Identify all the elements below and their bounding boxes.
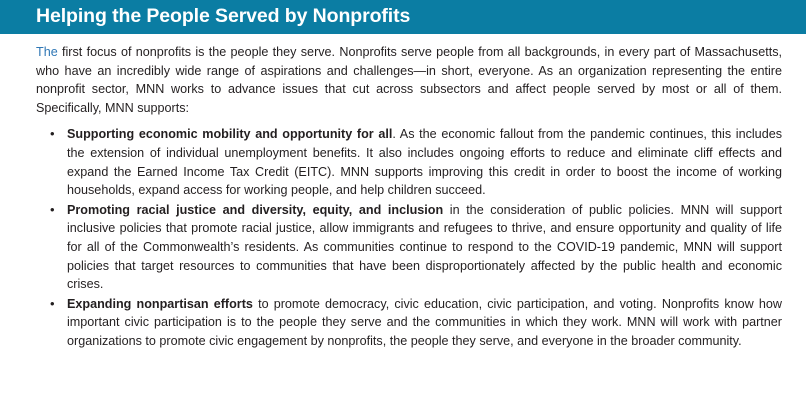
document-body: The first focus of nonprofits is the peo… [0,34,806,351]
supports-bullet-list: •Supporting economic mobility and opport… [36,125,782,350]
list-item-lead: Expanding nonpartisan efforts [67,297,253,311]
intro-paragraph: The first focus of nonprofits is the peo… [36,43,782,117]
bullet-marker-icon: • [50,295,55,314]
intro-paragraph-text: first focus of nonprofits is the people … [36,45,782,115]
section-header-banner: Helping the People Served by Nonprofits [0,0,806,34]
intro-lead-word: The [36,45,58,59]
list-item: •Supporting economic mobility and opport… [36,125,782,199]
list-item-lead: Supporting economic mobility and opportu… [67,127,392,141]
document-page: Helping the People Served by Nonprofits … [0,0,806,400]
list-item-lead: Promoting racial justice and diversity, … [67,203,443,217]
list-item: •Promoting racial justice and diversity,… [36,201,782,294]
list-item: •Expanding nonpartisan efforts to promot… [36,295,782,351]
page-title: Helping the People Served by Nonprofits [36,7,410,27]
bullet-marker-icon: • [50,201,55,220]
bullet-marker-icon: • [50,125,55,144]
